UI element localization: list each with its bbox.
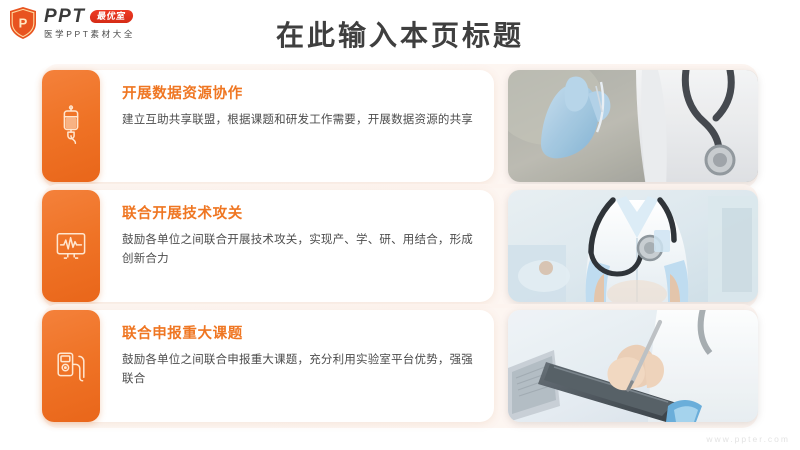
feature-card-description: 鼓励各单位之间联合申报重大课题，充分利用实验室平台优势，强强联合 [122,351,476,389]
page-header: P PPT 最优室 医学PPT素材大全 在此输入本页标题 [0,0,800,62]
page-title: 在此输入本页标题 [0,14,800,54]
feature-card-description: 鼓励各单位之间联合开展技术攻关，实现产、学、研、用结合，形成创新合力 [122,231,476,269]
feature-card-title: 开展数据资源协作 [122,87,476,103]
feature-card[interactable]: 联合开展技术攻关 鼓励各单位之间联合开展技术攻关，实现产、学、研、用结合，形成创… [42,190,494,302]
feature-card-body: 联合开展技术攻关 鼓励各单位之间联合开展技术攻关，实现产、学、研、用结合，形成创… [100,190,494,302]
feature-card-title: 联合申报重大课题 [122,327,476,343]
feature-card-description: 建立互助共享联盟，根据课题和研发工作需要，开展数据资源的共享 [122,111,476,130]
blood-pressure-monitor-icon [42,310,100,422]
feature-card[interactable]: 开展数据资源协作 建立互助共享联盟，根据课题和研发工作需要，开展数据资源的共享 [42,70,494,182]
doctor-blue-gloves-stethoscope-photo [508,70,758,182]
doctor-writing-tablet-laptop-photo [508,310,758,422]
site-watermark: www.ppter.com [706,434,790,444]
ecg-monitor-icon [42,190,100,302]
content-row: 联合申报重大课题 鼓励各单位之间联合申报重大课题，充分利用实验室平台优势，强强联… [42,310,758,422]
feature-card-body: 联合申报重大课题 鼓励各单位之间联合申报重大课题，充分利用实验室平台优势，强强联… [100,310,494,422]
feature-card-title: 联合开展技术攻关 [122,207,476,223]
feature-card-body: 开展数据资源协作 建立互助共享联盟，根据课题和研发工作需要，开展数据资源的共享 [100,70,494,182]
content-stage: 开展数据资源协作 建立互助共享联盟，根据课题和研发工作需要，开展数据资源的共享 [0,62,800,450]
feature-card[interactable]: 联合申报重大课题 鼓励各单位之间联合申报重大课题，充分利用实验室平台优势，强强联… [42,310,494,422]
content-row: 开展数据资源协作 建立互助共享联盟，根据课题和研发工作需要，开展数据资源的共享 [42,70,758,182]
content-row: 联合开展技术攻关 鼓励各单位之间联合开展技术攻关，实现产、学、研、用结合，形成创… [42,190,758,302]
iv-drip-icon [42,70,100,182]
nurse-uniform-stethoscope-photo [508,190,758,302]
